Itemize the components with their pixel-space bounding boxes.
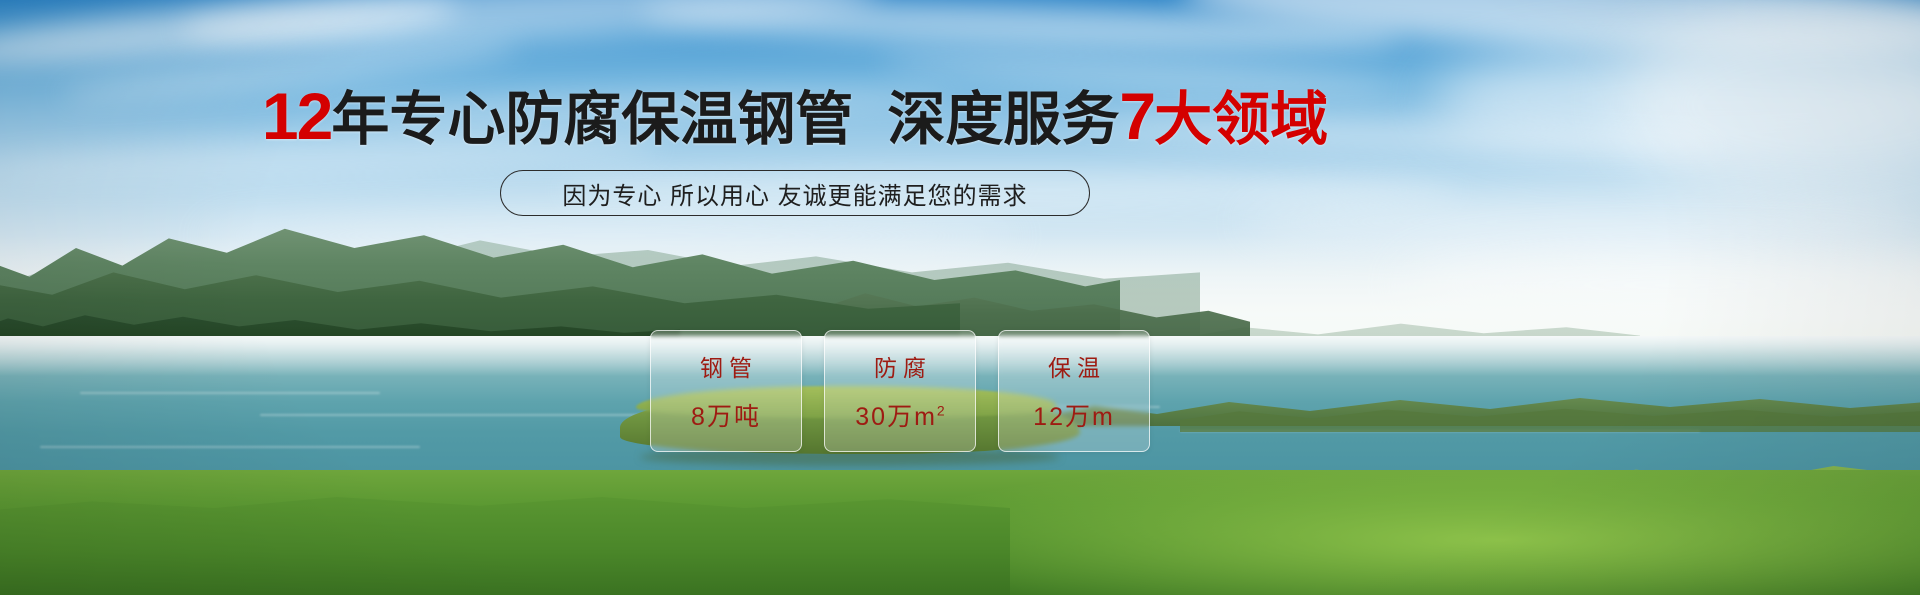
headline-years-number: 12 <box>262 79 331 153</box>
stat-card-list: 钢管 8万吨 防腐 30万m2 保温 12万m <box>650 330 1150 452</box>
stat-card-value: 12万m <box>1033 397 1115 433</box>
hero-banner: 12年专心防腐保温钢管深度服务7大领域 因为专心 所以用心 友诚更能满足您的需求… <box>0 0 1920 595</box>
banner-content: 12年专心防腐保温钢管深度服务7大领域 因为专心 所以用心 友诚更能满足您的需求… <box>0 0 1920 595</box>
stat-card-steel-pipe[interactable]: 钢管 8万吨 <box>650 330 802 452</box>
headline-service-text: 深度服务 <box>887 87 1119 152</box>
headline-lead-text: 年专心防腐保温钢管 <box>331 87 853 152</box>
banner-subtitle-text: 因为专心 所以用心 友诚更能满足您的需求 <box>562 176 1027 211</box>
banner-headline: 12年专心防腐保温钢管深度服务7大领域 <box>0 84 1590 152</box>
stat-card-insulation[interactable]: 保温 12万m <box>998 330 1150 452</box>
headline-fields-number: 7 <box>1119 79 1154 153</box>
banner-subtitle-pill: 因为专心 所以用心 友诚更能满足您的需求 <box>500 170 1090 216</box>
stat-card-value-main: 12万m <box>1033 403 1115 431</box>
stat-card-label: 保温 <box>1042 349 1106 383</box>
stat-card-label: 防腐 <box>868 349 932 383</box>
stat-card-value-main: 30万m <box>855 403 937 431</box>
stat-card-value: 30万m2 <box>855 397 944 433</box>
stat-card-value-superscript: 2 <box>937 403 945 419</box>
stat-card-value: 8万吨 <box>691 397 761 433</box>
headline-fields-unit: 大领域 <box>1154 87 1328 152</box>
stat-card-anticorrosion[interactable]: 防腐 30万m2 <box>824 330 976 452</box>
stat-card-value-main: 8万吨 <box>691 403 761 431</box>
stat-card-label: 钢管 <box>694 349 758 383</box>
